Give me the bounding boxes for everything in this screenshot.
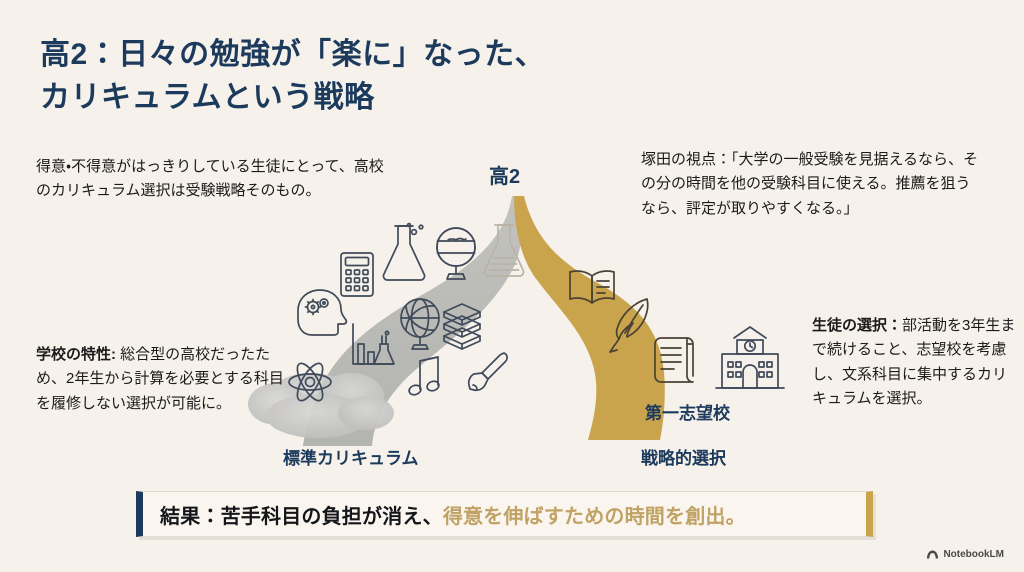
globe-stand-icon — [437, 228, 475, 279]
strategic-choice-path — [514, 196, 665, 440]
standard-curriculum-path — [303, 196, 523, 446]
atom-icon — [289, 360, 331, 404]
flask-bubbles-icon — [383, 224, 424, 280]
page-title: 高2：日々の勉強が「楽に」なった、 カリキュラムという戦略 — [40, 34, 740, 119]
open-book-icon — [570, 271, 614, 303]
notebooklm-watermark: NotebookLM — [926, 549, 1004, 560]
feather-quill-icon — [610, 299, 648, 352]
bar-chart-flask-icon — [353, 324, 394, 364]
paintbrush-icon — [469, 353, 507, 390]
music-note-icon — [408, 357, 440, 396]
scroll-document-icon — [655, 338, 693, 382]
page-title-line-2: カリキュラムという戦略 — [40, 77, 740, 120]
notebooklm-logo-icon — [926, 549, 939, 560]
page-title-line-1: 高2：日々の勉強が「楽に」なった、 — [40, 34, 740, 77]
result-banner-part-1: 結果：苦手科目の負担が消え、 — [160, 506, 443, 528]
notebooklm-label: NotebookLM — [943, 549, 1004, 560]
result-banner-text: 結果：苦手科目の負担が消え、得意を伸ばすための時間を創出。 — [143, 500, 746, 529]
strategic-choice-label: 戦略的選択 — [641, 444, 726, 469]
school-trait-label: 学校の特性: — [36, 346, 116, 363]
student-choice-label: 生徒の選択： — [812, 317, 902, 334]
flask-lined-icon — [484, 225, 523, 276]
intro-paragraph: 得意・不得意がはっきりしている生徒にとって、高校のカリキュラム選択は受験戦略その… — [36, 155, 396, 204]
slide-canvas: 高2：日々の勉強が「楽に」なった、 カリキュラムという戦略 — [0, 0, 1024, 572]
brain-gears-icon — [298, 290, 346, 335]
apex-label-grade2: 高2 — [489, 160, 520, 189]
result-banner-part-2: 得意を伸ばすための時間を創出。 — [443, 506, 746, 528]
tsukada-viewpoint-paragraph: 塚田の視点：「大学の一般受験を見据えるなら、その分の時間を他の受験科目に使える。… — [641, 148, 981, 221]
calculator-icon — [341, 253, 373, 296]
standard-curriculum-label: 標準カリキュラム — [283, 444, 419, 469]
result-banner: 結果：苦手科目の負担が消え、得意を伸ばすための時間を創出。 — [136, 491, 873, 537]
student-choice-paragraph: 生徒の選択：部活動を3年生まで続けること、志望校を考慮し、文系科目に集中するカリ… — [812, 314, 1018, 411]
school-building-icon — [716, 327, 784, 388]
school-trait-paragraph: 学校の特性: 総合型の高校だったため、2年生から計算を必要とする科目を履修しない… — [36, 343, 292, 416]
books-stack-icon — [444, 304, 480, 349]
globe-wireframe-icon — [401, 299, 439, 349]
first-choice-school-label: 第一志望校 — [645, 399, 730, 424]
